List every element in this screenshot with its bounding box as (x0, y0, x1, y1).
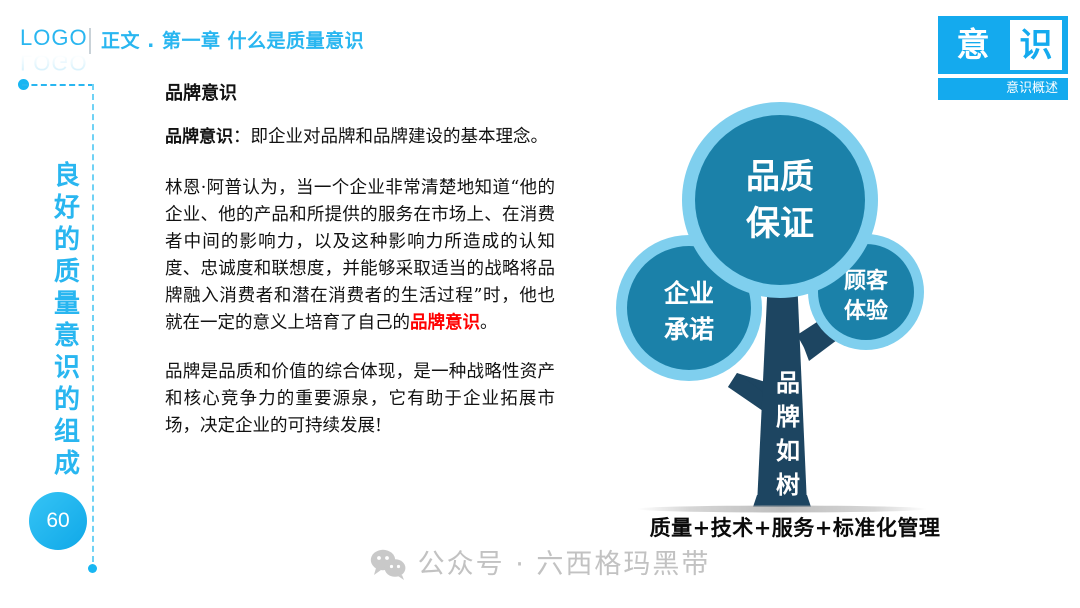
section-badge: 意 识 意识概述 (938, 16, 1068, 100)
paragraph-definition: 品牌意识：即企业对品牌和品牌建设的基本理念。 (165, 124, 555, 151)
content-body: 品牌意识 品牌意识：即企业对品牌和品牌建设的基本理念。 林恩·阿普认为，当一个企… (165, 82, 555, 462)
quote-text-after: 。 (480, 313, 498, 333)
tree-node-left-line1: 企业 (664, 279, 714, 308)
sidebar-bottom-dot-icon (88, 564, 97, 573)
tree-caption: 质量+技术+服务+标准化管理 (585, 512, 1005, 542)
paragraph-summary: 品牌是品质和价值的综合体现，是一种战略性资产和核心竞争力的重要源泉，它有助于企业… (165, 359, 555, 440)
sidebar: 良好的质量意识的组成 60 (0, 72, 150, 602)
trunk-char-1: 品 (776, 369, 800, 397)
sidebar-dashed-vertical (92, 84, 94, 572)
definition-body: ：即企业对品牌和品牌建设的基本理念。 (233, 127, 548, 147)
trunk-char-4: 树 (776, 471, 800, 499)
badge-char-primary: 意 (948, 20, 998, 70)
watermark: 公众号 · 六西格玛黑带 (0, 548, 1080, 582)
trunk-char-2: 牌 (776, 403, 800, 431)
page-title: 正文 . 第一章 什么是质量意识 (101, 28, 364, 54)
logo-reflection: LOGO (20, 50, 100, 74)
page-number-badge: 60 (29, 492, 87, 550)
badge-char-secondary: 识 (1010, 20, 1062, 70)
page-header: LOGO LOGO 正文 . 第一章 什么是质量意识 (0, 0, 1080, 78)
sidebar-dashed-horizontal (22, 84, 94, 86)
logo-text: LOGO (20, 26, 100, 50)
paragraph-quote: 林恩·阿普认为，当一个企业非常清楚地知道“他的企业、他的产品和所提供的服务在市场… (165, 175, 555, 337)
wechat-icon (370, 549, 408, 581)
tree-node-right-line1: 顾客 (844, 268, 889, 294)
badge-char-secondary-box: 识 (1010, 20, 1062, 70)
trunk-char-3: 如 (776, 437, 800, 465)
section-badge-main: 意 识 (938, 16, 1068, 74)
sidebar-vertical-label: 良好的质量意识的组成 (46, 160, 88, 480)
definition-term: 品牌意识 (165, 127, 233, 147)
highlighted-term: 品牌意识 (410, 313, 480, 333)
tree-node-top-line2: 保证 (746, 204, 814, 244)
logo[interactable]: LOGO LOGO (20, 26, 100, 70)
tree-diagram-svg: 品 牌 如 树 企业 承诺 顾客 体验 品质 保证 (585, 95, 1005, 545)
tree-node-left-line2: 承诺 (664, 315, 714, 344)
content-heading: 品牌意识 (165, 82, 555, 106)
quote-text-before: 林恩·阿普认为，当一个企业非常清楚地知道“他的企业、他的产品和所提供的服务在市场… (165, 178, 555, 333)
tree-diagram: 品 牌 如 树 企业 承诺 顾客 体验 品质 保证 (585, 95, 1005, 545)
tree-node-top[interactable]: 品质 保证 (682, 102, 878, 298)
header-divider (89, 28, 91, 54)
tree-node-top-line1: 品质 (746, 157, 814, 197)
tree-node-right-line2: 体验 (844, 298, 888, 324)
watermark-text: 公众号 · 六西格玛黑带 (418, 548, 711, 582)
